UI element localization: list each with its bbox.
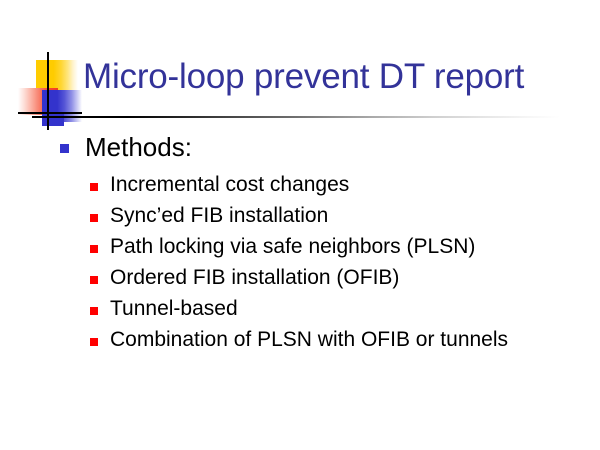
list-item: Sync’ed FIB installation (0, 202, 600, 233)
square-bullet-icon (90, 245, 98, 253)
list-item-label: Sync’ed FIB installation (110, 202, 328, 229)
square-bullet-icon (90, 338, 98, 346)
square-bullet-icon (60, 144, 69, 153)
list-item: Path locking via safe neighbors (PLSN) (0, 233, 600, 264)
presentation-slide: Micro-loop prevent DT report Methods: In… (0, 0, 600, 450)
square-bullet-icon (90, 276, 98, 284)
vertical-rule-icon (47, 52, 49, 130)
list-item-label: Combination of PLSN with OFIB or tunnels (110, 326, 508, 353)
list-item: Incremental cost changes (0, 171, 600, 202)
slide-body: Methods: Incremental cost changes Sync’e… (0, 132, 600, 357)
list-item: Ordered FIB installation (OFIB) (0, 264, 600, 295)
sub-list: Incremental cost changes Sync’ed FIB ins… (0, 171, 600, 357)
title-divider (32, 116, 560, 118)
list-item-label: Incremental cost changes (110, 171, 349, 198)
slide-design-accent-graphic (18, 52, 82, 130)
list-item: Tunnel-based (0, 295, 600, 326)
list-item: Methods: (0, 132, 600, 166)
list-item: Combination of PLSN with OFIB or tunnels (0, 326, 600, 357)
square-bullet-icon (90, 183, 98, 191)
list-item-label: Path locking via safe neighbors (PLSN) (110, 233, 475, 260)
square-bullet-icon (90, 307, 98, 315)
square-bullet-icon (90, 214, 98, 222)
list-item-label: Methods: (85, 132, 192, 163)
horizontal-rule-icon (18, 112, 82, 114)
list-item-label: Tunnel-based (110, 295, 238, 322)
list-item-label: Ordered FIB installation (OFIB) (110, 264, 399, 291)
slide-title: Micro-loop prevent DT report (83, 56, 524, 98)
